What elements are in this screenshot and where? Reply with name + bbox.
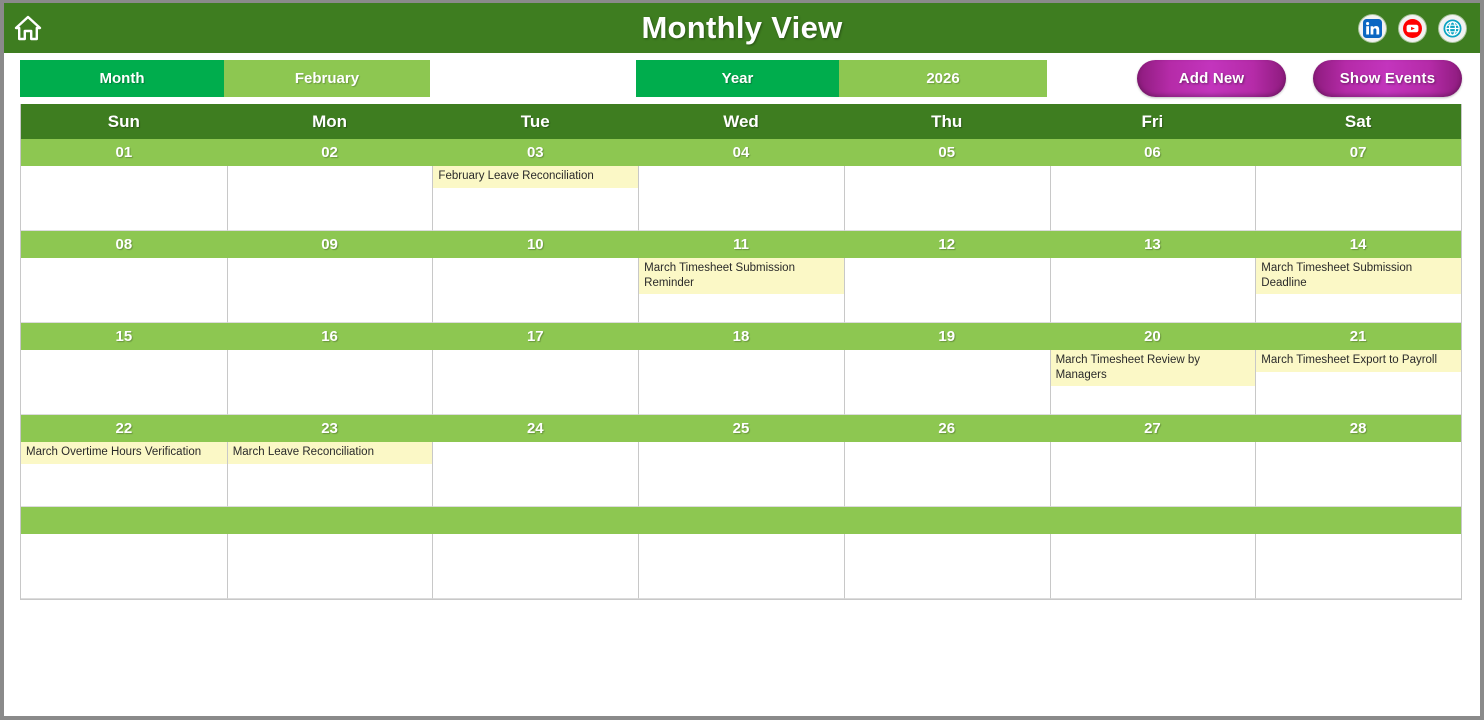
- date-number[interactable]: 16: [227, 323, 433, 350]
- calendar-week: 22232425262728March Overtime Hours Verif…: [21, 415, 1461, 507]
- calendar-week: [21, 507, 1461, 599]
- date-number[interactable]: 19: [844, 323, 1050, 350]
- day-cell[interactable]: March Leave Reconciliation: [227, 442, 433, 507]
- day-cell[interactable]: [844, 258, 1050, 323]
- date-number[interactable]: 01: [21, 139, 227, 166]
- calendar-week: 08091011121314March Timesheet Submission…: [21, 231, 1461, 323]
- date-number[interactable]: 05: [844, 139, 1050, 166]
- day-cell[interactable]: March Timesheet Submission Deadline: [1255, 258, 1461, 323]
- day-of-week-mon: Mon: [227, 104, 433, 139]
- date-number[interactable]: 09: [227, 231, 433, 258]
- date-number[interactable]: 26: [844, 415, 1050, 442]
- title-bar: Monthly View: [4, 3, 1480, 53]
- date-number-row: 15161718192021: [21, 323, 1461, 350]
- date-number[interactable]: 12: [844, 231, 1050, 258]
- date-number[interactable]: 21: [1255, 323, 1461, 350]
- day-cell[interactable]: [844, 350, 1050, 415]
- day-of-week-sat: Sat: [1255, 104, 1461, 139]
- day-cell[interactable]: [21, 350, 227, 415]
- calendar-weeks: 01020304050607February Leave Reconciliat…: [21, 139, 1461, 599]
- day-cell[interactable]: [432, 442, 638, 507]
- date-number-row: 01020304050607: [21, 139, 1461, 166]
- date-number[interactable]: 04: [638, 139, 844, 166]
- date-number[interactable]: 07: [1255, 139, 1461, 166]
- month-selector: Month February: [20, 60, 430, 97]
- date-number[interactable]: 20: [1050, 323, 1256, 350]
- day-cell[interactable]: [227, 166, 433, 231]
- calendar-event[interactable]: March Timesheet Export to Payroll: [1256, 350, 1461, 372]
- date-number[interactable]: 13: [1050, 231, 1256, 258]
- day-cell[interactable]: [638, 534, 844, 599]
- day-cell[interactable]: [1050, 166, 1256, 231]
- day-cell[interactable]: [1255, 534, 1461, 599]
- calendar-event[interactable]: March Timesheet Submission Reminder: [639, 258, 844, 294]
- day-cell-row: March Overtime Hours VerificationMarch L…: [21, 442, 1461, 507]
- date-number[interactable]: 11: [638, 231, 844, 258]
- monthly-view-app: Monthly View: [0, 0, 1484, 720]
- day-of-week-fri: Fri: [1050, 104, 1256, 139]
- date-number[interactable]: 10: [432, 231, 638, 258]
- calendar-event[interactable]: March Timesheet Review by Managers: [1051, 350, 1256, 386]
- day-cell[interactable]: [227, 258, 433, 323]
- day-cell[interactable]: March Timesheet Submission Reminder: [638, 258, 844, 323]
- date-number[interactable]: 18: [638, 323, 844, 350]
- date-number[interactable]: 28: [1255, 415, 1461, 442]
- day-cell[interactable]: [21, 166, 227, 231]
- day-cell[interactable]: [638, 442, 844, 507]
- day-cell[interactable]: [227, 534, 433, 599]
- day-cell[interactable]: [844, 442, 1050, 507]
- show-events-button[interactable]: Show Events: [1313, 60, 1462, 97]
- month-label: Month: [20, 60, 224, 97]
- day-cell[interactable]: March Overtime Hours Verification: [21, 442, 227, 507]
- calendar-grid: SunMonTueWedThuFriSat 01020304050607Febr…: [20, 104, 1462, 600]
- date-number-row: [21, 507, 1461, 534]
- day-cell[interactable]: [21, 258, 227, 323]
- date-number[interactable]: 17: [432, 323, 638, 350]
- add-new-button[interactable]: Add New: [1137, 60, 1286, 97]
- date-number-row: 22232425262728: [21, 415, 1461, 442]
- day-cell-row: March Timesheet Review by ManagersMarch …: [21, 350, 1461, 415]
- date-number[interactable]: 24: [432, 415, 638, 442]
- day-cell[interactable]: [844, 534, 1050, 599]
- controls-bar: Month February Year 2026 Add New Show Ev…: [4, 53, 1480, 104]
- social-links: [1359, 3, 1466, 53]
- page-title: Monthly View: [4, 10, 1480, 46]
- day-cell[interactable]: [1255, 442, 1461, 507]
- day-of-week-header: SunMonTueWedThuFriSat: [21, 104, 1461, 139]
- day-of-week-tue: Tue: [432, 104, 638, 139]
- day-cell[interactable]: [21, 534, 227, 599]
- date-number-empty: [432, 507, 638, 534]
- date-number-empty: [1255, 507, 1461, 534]
- calendar-week: 01020304050607February Leave Reconciliat…: [21, 139, 1461, 231]
- date-number[interactable]: 14: [1255, 231, 1461, 258]
- date-number-empty: [227, 507, 433, 534]
- globe-icon[interactable]: [1439, 15, 1466, 42]
- date-number[interactable]: 22: [21, 415, 227, 442]
- day-cell[interactable]: March Timesheet Review by Managers: [1050, 350, 1256, 415]
- date-number[interactable]: 03: [432, 139, 638, 166]
- date-number[interactable]: 25: [638, 415, 844, 442]
- year-value[interactable]: 2026: [839, 60, 1047, 97]
- calendar-event[interactable]: March Timesheet Submission Deadline: [1256, 258, 1461, 294]
- date-number-empty: [21, 507, 227, 534]
- youtube-icon[interactable]: [1399, 15, 1426, 42]
- date-number-empty: [1050, 507, 1256, 534]
- date-number-empty: [844, 507, 1050, 534]
- calendar-event[interactable]: February Leave Reconciliation: [433, 166, 638, 188]
- date-number[interactable]: 02: [227, 139, 433, 166]
- day-cell[interactable]: March Timesheet Export to Payroll: [1255, 350, 1461, 415]
- day-cell[interactable]: February Leave Reconciliation: [432, 166, 638, 231]
- day-of-week-thu: Thu: [844, 104, 1050, 139]
- date-number-row: 08091011121314: [21, 231, 1461, 258]
- month-value[interactable]: February: [224, 60, 430, 97]
- day-cell-row: March Timesheet Submission ReminderMarch…: [21, 258, 1461, 323]
- date-number[interactable]: 15: [21, 323, 227, 350]
- year-selector: Year 2026: [636, 60, 1047, 97]
- date-number[interactable]: 06: [1050, 139, 1256, 166]
- day-cell[interactable]: [432, 258, 638, 323]
- day-cell[interactable]: [432, 350, 638, 415]
- day-cell-row: February Leave Reconciliation: [21, 166, 1461, 231]
- day-cell[interactable]: [844, 166, 1050, 231]
- day-cell[interactable]: [227, 350, 433, 415]
- linkedin-icon[interactable]: [1359, 15, 1386, 42]
- year-label: Year: [636, 60, 839, 97]
- calendar-week: 15161718192021March Timesheet Review by …: [21, 323, 1461, 415]
- day-cell[interactable]: [638, 350, 844, 415]
- date-number[interactable]: 23: [227, 415, 433, 442]
- date-number[interactable]: 27: [1050, 415, 1256, 442]
- date-number[interactable]: 08: [21, 231, 227, 258]
- calendar-event[interactable]: March Overtime Hours Verification: [21, 442, 227, 464]
- day-cell[interactable]: [1255, 166, 1461, 231]
- day-cell[interactable]: [1050, 258, 1256, 323]
- date-number-empty: [638, 507, 844, 534]
- day-of-week-sun: Sun: [21, 104, 227, 139]
- calendar-event[interactable]: March Leave Reconciliation: [228, 442, 433, 464]
- day-cell[interactable]: [638, 166, 844, 231]
- day-cell[interactable]: [432, 534, 638, 599]
- day-cell[interactable]: [1050, 534, 1256, 599]
- action-buttons: Add New Show Events: [1137, 60, 1462, 97]
- day-of-week-wed: Wed: [638, 104, 844, 139]
- day-cell-row: [21, 534, 1461, 599]
- day-cell[interactable]: [1050, 442, 1256, 507]
